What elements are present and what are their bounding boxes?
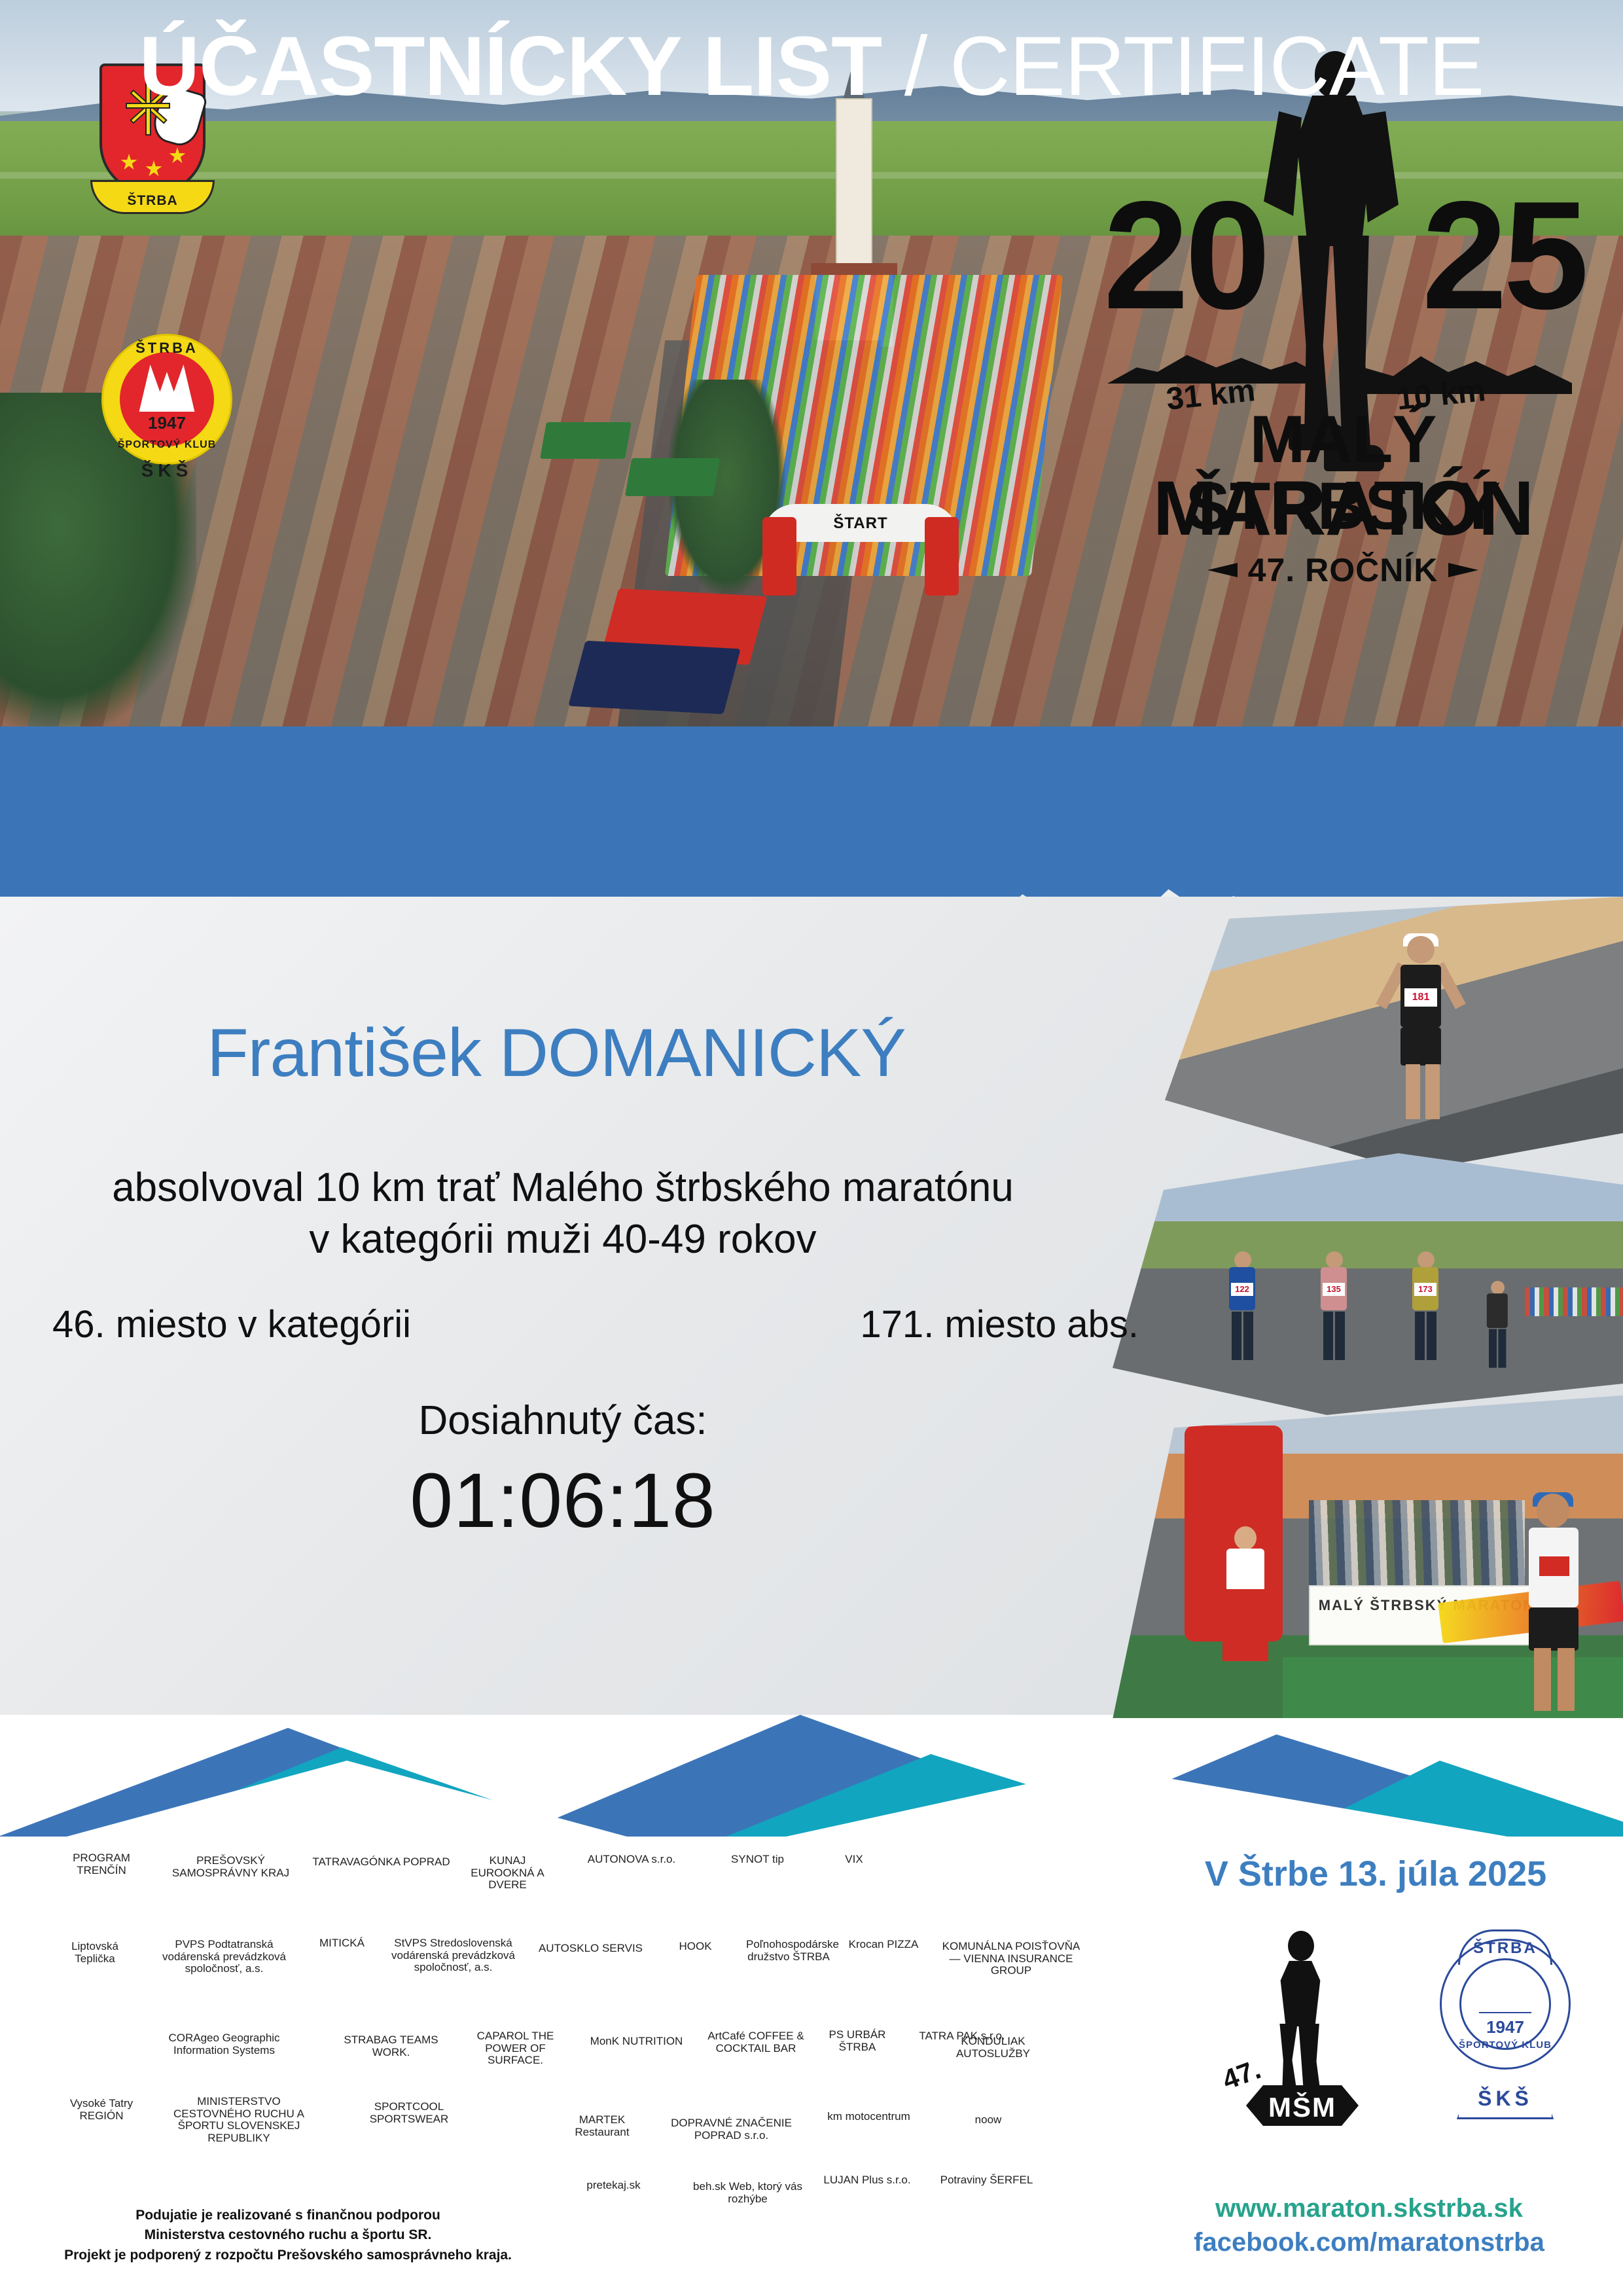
sponsor-logo: LUJAN Plus s.r.o. [821, 2174, 913, 2187]
sks-club-stamp-icon: ŠTRBA 1947 ŠPORTOVÝ KLUB ŠKŠ [1420, 1924, 1590, 2134]
sponsor-logo: AUTONOVA s.r.o. [560, 1854, 704, 1866]
sponsor-logo: PROGRAM TRENČÍN [52, 1852, 151, 1876]
msm-abbrev: MŠM [1237, 2092, 1368, 2123]
sponsor-logo: km motocentrum [818, 2111, 919, 2123]
stamp-bottom-label: ŠPORTOVÝ KLUB [1420, 2039, 1590, 2051]
sponsor-logo: CORAgeo Geographic Information Systems [147, 2032, 301, 2056]
photo-runners-road: 122 135 173 [1113, 1153, 1623, 1415]
start-arch: ŠTART [762, 504, 959, 596]
banner-title-en: CERTIFICATE [950, 20, 1484, 113]
crest-label: ŠTRBA [92, 193, 213, 209]
sponsor-logo: DOPRAVNÉ ZNAČENIE POPRAD s.r.o. [661, 2117, 802, 2142]
sponsor-logo: TATRAVAGÓNKA POPRAD [311, 1856, 452, 1869]
sponsor-logo: MonK NUTRITION [582, 2036, 690, 2048]
disclaimer-line3: Projekt je podporený z rozpočtu Prešovsk… [52, 2246, 524, 2265]
sponsor-logo: Poľnohospodárske družstvo ŠTRBA [746, 1939, 831, 1963]
photo-finisher-woman: 181 [1165, 897, 1623, 1172]
sponsor-logo: PREŠOVSKÝ SAMOSPRÁVNY KRAJ [160, 1855, 301, 1879]
race-year-part1: 20 [1103, 180, 1266, 331]
sponsor-logo: Krocan PIZZA [841, 1939, 926, 1951]
sponsor-logo: PVPS Podtatranská vodárenská prevádzková… [147, 1939, 301, 1975]
sponsor-logo: KOMUNÁLNA POISŤOVŇA — VIENNA INSURANCE G… [936, 1941, 1086, 1977]
banner-title-sk: ÚČASTNÍCKY LIST [139, 20, 882, 113]
banner-title: ÚČASTNÍCKY LIST / CERTIFICATE [0, 25, 1623, 109]
description-line2: v kategórii muži 40-49 rokov [0, 1213, 1126, 1265]
runner-pack [1525, 1287, 1623, 1316]
race-title-line2: MARATÓN [1094, 470, 1592, 547]
race-edition-row: 47. ROČNÍK [1094, 551, 1592, 589]
race-logo: 20 25 31 km 10 km MALÝ ŠTRBSKÝ MARATÓN 4… [1094, 39, 1592, 589]
description-line1: absolvoval 10 km trať Malého štrbského m… [0, 1162, 1126, 1213]
sponsor-logo-grid: PROGRAM TRENČÍNPREŠOVSKÝ SAMOSPRÁVNY KRA… [39, 1839, 1152, 2206]
place-absolute: 171. miesto abs. [860, 1302, 1139, 1346]
photo2-bib-a: 122 [1231, 1283, 1253, 1296]
photo1-bib-number: 181 [1404, 988, 1437, 1007]
sponsor-logo: VIX [811, 1854, 897, 1866]
sponsor-logo: pretekaj.sk [556, 2179, 671, 2192]
photo2-bib-b: 135 [1323, 1283, 1345, 1296]
photo-finish-line: MALÝ ŠTRBSKÝ MARATÓN [1113, 1395, 1623, 1718]
race-year-part2: 25 [1422, 180, 1585, 331]
sks-club-logo-icon: ŠTRBA 1947 ŠPORTOVÝ KLUB ŠKŠ [98, 331, 236, 481]
sponsor-logo: AUTOSKLO SERVIS [537, 1943, 645, 1955]
funding-disclaimer: Podujatie je realizované s finančnou pod… [52, 2206, 524, 2265]
blue-tent [568, 641, 740, 714]
disclaimer-line2: Ministerstva cestovného ruchu a športu S… [52, 2225, 524, 2245]
sponsor-logo: HOOK [654, 1941, 736, 1953]
folk-costume-girl [1216, 1526, 1275, 1677]
arrow-left-icon [1207, 563, 1238, 577]
sponsor-logo: MARTEK Restaurant [556, 2114, 648, 2138]
race-edition-label: 47. ROČNÍK [1248, 552, 1438, 588]
participant-name: František DOMANICKÝ [0, 1014, 1113, 1092]
club-abbrev: ŠKŠ [98, 460, 236, 481]
mountain-divider [0, 1676, 1623, 1865]
sponsor-logo: Vysoké Tatry REGIÓN [52, 2098, 151, 2122]
sponsor-logo: MINISTERSTVO CESTOVNÉHO RUCHU A ŠPORTU S… [157, 2096, 321, 2145]
stamp-year: 1947 [1420, 2017, 1590, 2037]
green-tent [540, 422, 632, 459]
photo2-bib-c: 173 [1414, 1283, 1436, 1296]
time-label: Dosiahnutý čas: [0, 1397, 1126, 1444]
sponsor-logo: STRABAG TEAMS WORK. [327, 2034, 455, 2058]
stamp-abbrev: ŠKŠ [1459, 2087, 1552, 2111]
place-category: 46. miesto v kategórii [52, 1302, 411, 1346]
sponsor-logo: StVPS Stredoslovenská vodárenská prevádz… [380, 1937, 527, 1974]
contact-urls: www.maraton.skstrba.sk facebook.com/mara… [1153, 2191, 1585, 2259]
website-url[interactable]: www.maraton.skstrba.sk [1153, 2191, 1585, 2225]
disclaimer-line1: Podujatie je realizované s finančnou pod… [52, 2206, 524, 2225]
footer: PROGRAM TRENČÍNPREŠOVSKÝ SAMOSPRÁVNY KRA… [0, 1839, 1623, 2296]
banner-separator: / [882, 20, 950, 113]
photo-collage: 181 122 135 173 MALÝ ŠTRBSKÝ MARATÓN [1113, 897, 1623, 1718]
msm-edition: 47. [1219, 2053, 1265, 2096]
placement-row: 46. miesto v kategórii 171. miesto abs. [52, 1302, 1139, 1346]
certificate-page: ŠTART ŠTRBA ŠTRBA 1947 ŠPORTOVÝ KLUB ŠKŠ… [0, 0, 1623, 2296]
spectators [1309, 1500, 1525, 1585]
distance-row: 31 km 10 km [1101, 340, 1585, 409]
arrow-right-icon [1448, 563, 1478, 577]
sponsor-logo: MITICKÁ [311, 1937, 373, 1950]
certificate-description: absolvoval 10 km trať Malého štrbského m… [0, 1162, 1126, 1266]
club-year: 1947 [98, 413, 236, 433]
sponsor-logo: KUNAJ EUROOKNÁ A DVERE [463, 1855, 552, 1892]
sponsor-logo: KONDULIAK AUTOSLUŽBY [936, 2036, 1050, 2060]
sponsor-logo: SPORTCOOL SPORTSWEAR [344, 2101, 474, 2125]
club-top-label: ŠTRBA [98, 340, 236, 357]
sponsor-logo: noow [939, 2114, 1037, 2126]
sponsor-logo: CAPAROL THE POWER OF SURFACE. [471, 2030, 560, 2067]
sponsor-logo: Potraviny ŠERFEL [926, 2174, 1047, 2187]
facebook-url[interactable]: facebook.com/maratonstrba [1153, 2225, 1585, 2259]
green-tent [625, 458, 720, 496]
club-bottom-label: ŠPORTOVÝ KLUB [98, 439, 236, 451]
sponsor-logo: beh.sk Web, ktorý vás rozhýbe [687, 2181, 808, 2205]
time-value: 01:06:18 [0, 1456, 1126, 1545]
stamp-top-label: ŠTRBA [1460, 1939, 1550, 1958]
sponsor-logo: ArtCafé COFFEE & COCKTAIL BAR [707, 2030, 805, 2054]
sponsor-logo: SYNOT tip [713, 1854, 802, 1866]
sponsor-logo: Liptovská Teplička [52, 1941, 137, 1965]
msm-logo-icon: 47. MŠM [1222, 1931, 1380, 2127]
sponsor-logo: PS URBÁR ŠTRBA [821, 2029, 893, 2053]
date-place: V Štrbe 13. júla 2025 [1166, 1854, 1585, 1894]
